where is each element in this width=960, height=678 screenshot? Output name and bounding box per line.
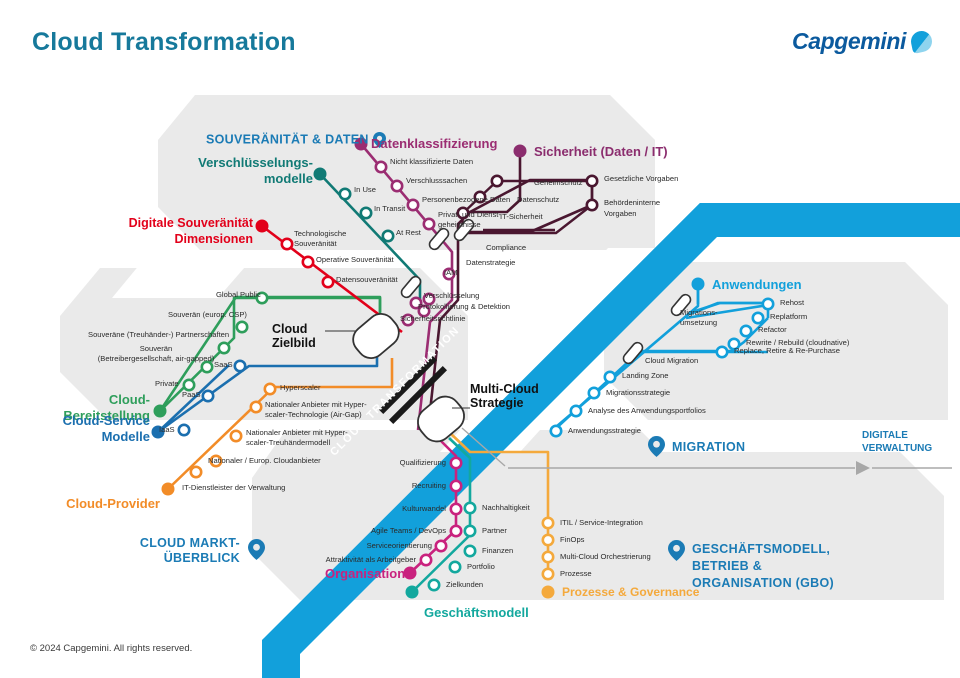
- line-title-prozesse-governance: Prozesse & Governance: [562, 585, 699, 599]
- line-title-geschaeftsmodell: Geschäftsmodell: [424, 605, 529, 620]
- station-label-nationaler-airgap: Nationaler Anbieter mit Hyper- scaler-Te…: [265, 400, 367, 421]
- line-title-organisation: Organisation: [325, 566, 405, 581]
- station-label-in-transit: In Transit: [374, 205, 405, 214]
- label-line2: Vorgaben: [604, 208, 660, 219]
- line-title-sicherheit: Sicherheit (Daten / IT): [534, 144, 668, 159]
- station-label-verschluesselung: Verschlüsselung: [424, 292, 479, 301]
- section-label-line1: GESCHÄFTSMODELL,: [692, 541, 834, 558]
- hub-line1: Multi-Cloud: [470, 382, 539, 396]
- station-label-geheimschutz: Geheimschutz: [534, 179, 583, 188]
- station-label-replace: Replace, Retire & Re-Purchase: [734, 347, 840, 356]
- station-label-personenbezogene-daten: Personenbezogene Daten: [422, 196, 510, 205]
- station-label-datenstrategie: Datenstrategie: [466, 259, 515, 268]
- station-label-portfolio: Portfolio: [467, 563, 495, 572]
- location-pin-icon-migration: [648, 436, 665, 457]
- station-label-refactor: Refactor: [758, 326, 787, 335]
- infographic-canvas: .pl{fill:none;stroke-linecap:butt;stroke…: [0, 0, 960, 678]
- station-label-global-public: Global Public: [216, 291, 261, 300]
- station-label-attraktivitaet: Attraktivität als Arbeitgeber: [312, 556, 416, 565]
- title-line2: Modelle: [38, 429, 150, 445]
- line-title-verschluesselungsmodelle: Verschlüsselungs- modelle: [148, 155, 313, 188]
- station-label-behoerdeninterne-vorgaben: Behördeninterne Vorgaben: [604, 197, 660, 219]
- capgemini-sail-icon: [909, 29, 934, 54]
- station-label-agile-teams: Agile Teams / DevOps: [366, 527, 446, 536]
- station-label-it-dienstleister: IT-Dienstleister der Verwaltung: [182, 484, 285, 493]
- station-label-technologische-souveraenitaet: Technologische Souveränität: [294, 229, 346, 250]
- station-label-qualifizierung: Qualifizierung: [392, 459, 446, 468]
- station-label-migrationsstrategie: Migrationsstrategie: [606, 389, 670, 398]
- label-line2: umsetzung: [680, 318, 718, 328]
- station-label-kulturwandel: Kulturwandel: [390, 505, 446, 514]
- label-line2: Souveränität: [294, 239, 346, 249]
- logo-wordmark: Capgemini: [792, 28, 906, 55]
- station-label-anwendungsstrategie: Anwendungsstrategie: [568, 427, 641, 436]
- section-migration: MIGRATION: [672, 440, 745, 455]
- arrow-line1: DIGITALE: [862, 430, 932, 443]
- line-title-datenklassifizierung: Datenklassifizierung: [371, 136, 497, 151]
- station-label-itil: ITIL / Service-Integration: [560, 519, 643, 528]
- station-label-operative-souveraenitaet: Operative Souveränität: [316, 256, 394, 265]
- station-label-private: Private: [155, 380, 179, 389]
- label-line1: Technologische: [294, 229, 346, 239]
- station-label-rehost: Rehost: [780, 299, 804, 308]
- station-label-souveraen-betreibergesellschaft: Souverän (Betreibergesellschaft, air-gap…: [76, 344, 236, 365]
- station-label-gesetzliche-vorgaben: Gesetzliche Vorgaben: [604, 175, 678, 184]
- title-line2: modelle: [148, 171, 313, 187]
- station-label-multicloud-orch: Multi-Cloud Orchestrierung: [560, 553, 651, 562]
- title-line1: Verschlüsselungs-: [148, 155, 313, 171]
- section-label: SOUVERÄNITÄT & DATEN: [206, 132, 369, 146]
- label-line1: Privat- und Dienst-: [438, 210, 501, 220]
- label-line1: Behördeninterne: [604, 197, 660, 208]
- station-label-iaas: IaaS: [159, 426, 175, 435]
- label-line2: scaler-Technologie (Air-Gap): [265, 410, 367, 420]
- title-line1: Cloud-Service: [38, 413, 150, 429]
- label-line2: geheimnisse: [438, 220, 501, 230]
- station-label-analyse-portfolio: Analyse des Anwendungsportfolios: [588, 407, 706, 416]
- line-title-cloud-service-modelle: Cloud-Service Modelle: [38, 413, 150, 446]
- line-title-digitale-souveraenitaet: Digitale Souveränität Dimensionen: [98, 216, 253, 247]
- station-label-souveraen-csp: Souverän (europ. CSP): [168, 311, 247, 320]
- station-label-compliance: Compliance: [486, 244, 526, 253]
- station-label-in-use: In Use: [354, 186, 376, 195]
- station-label-replatform: Replatform: [770, 313, 807, 322]
- location-pin-icon-markt: [248, 539, 265, 560]
- station-label-recruiting: Recruiting: [396, 482, 446, 491]
- station-label-nachhaltigkeit: Nachhaltigkeit: [482, 504, 530, 513]
- section-cloud-markt-ueberblick: CLOUD MARKT- ÜBERBLICK: [110, 536, 240, 566]
- copyright-text: © 2024 Capgemini. All rights reserved.: [30, 643, 192, 654]
- station-label-verschlusssachen: Verschlusssachen: [406, 177, 467, 186]
- line-title-cloud-provider: Cloud-Provider: [48, 496, 160, 511]
- station-label-finops: FinOps: [560, 536, 584, 545]
- label-line1: Souverän: [76, 344, 236, 354]
- digitale-verwaltung-label: DIGITALE VERWALTUNG: [862, 430, 932, 455]
- station-label-protokollierung: Protokollierung & Detektion: [418, 303, 510, 312]
- station-label-souveraene-treuhaender: Souveräne (Treuhänder-) Partnerschaften: [88, 331, 229, 340]
- location-pin-icon-gbo: [668, 540, 685, 561]
- station-label-nationaler-europ: Nationaler / Europ. Cloudanbieter: [208, 457, 321, 466]
- page-title: Cloud Transformation: [32, 28, 296, 57]
- station-label-partner: Partner: [482, 527, 507, 536]
- station-label-saas: SaaS: [214, 361, 233, 370]
- label-line2: (Betreibergesellschaft, air-gapped): [76, 354, 236, 364]
- title-line1: Digitale Souveränität: [98, 216, 253, 232]
- label-line1: Migrations-: [680, 308, 718, 318]
- station-label-datensouveraenitaet: Datensouveränität: [336, 276, 398, 285]
- station-label-zielkunden: Zielkunden: [446, 581, 483, 590]
- section-label-line3: ORGANISATION (GBO): [692, 575, 834, 592]
- section-souveraenitaet-daten: SOUVERÄNITÄT & DATEN: [206, 132, 386, 148]
- station-label-migrationsumsetzung: Migrations- umsetzung: [680, 308, 718, 329]
- capgemini-logo: Capgemini: [792, 28, 932, 55]
- label-line2: scaler-Treuhändermodell: [246, 438, 348, 448]
- label-line1: Nationaler Anbieter mit Hyper-: [265, 400, 367, 410]
- title-line1: Cloud-: [40, 392, 150, 408]
- station-label-at-rest: At Rest: [396, 229, 421, 238]
- station-label-paas: PaaS: [182, 391, 201, 400]
- station-label-it-sicherheit: IT-Sicherheit: [500, 213, 543, 222]
- section-label-line2: ÜBERBLICK: [110, 551, 240, 566]
- station-label-serviceorientierung: Serviceorientierung: [358, 542, 432, 551]
- section-label-line2: BETRIEB &: [692, 558, 834, 575]
- arrow-line2: VERWALTUNG: [862, 443, 932, 456]
- station-label-prozesse: Prozesse: [560, 570, 592, 579]
- station-label-sicherheitsrichtlinie: Sicherheitsrichtlinie: [400, 315, 465, 324]
- hub-line2: Strategie: [470, 396, 539, 410]
- line-title-anwendungen: Anwendungen: [712, 277, 802, 292]
- station-label-cloud-migration: Cloud Migration: [645, 357, 698, 366]
- station-label-hyperscaler: Hyperscaler: [280, 384, 321, 393]
- label-line1: Nationaler Anbieter mit Hyper-: [246, 428, 348, 438]
- section-label-line1: CLOUD MARKT-: [110, 536, 240, 551]
- station-label-nicht-klassifizierte-daten: Nicht klassifizierte Daten: [390, 158, 473, 167]
- section-gbo: GESCHÄFTSMODELL, BETRIEB & ORGANISATION …: [692, 541, 834, 592]
- station-label-landing-zone: Landing Zone: [622, 372, 668, 381]
- hub-label-cloud-zielbild: Cloud Zielbild: [272, 322, 316, 351]
- hub-label-multi-cloud-strategie: Multi-Cloud Strategie: [470, 382, 539, 411]
- station-label-datenschutz: Datenschutz: [517, 196, 559, 205]
- hub-line2: Zielbild: [272, 336, 316, 350]
- station-label-nationaler-treuhaender: Nationaler Anbieter mit Hyper- scaler-Tr…: [246, 428, 348, 449]
- title-line2: Dimensionen: [98, 232, 253, 248]
- hub-line1: Cloud: [272, 322, 316, 336]
- station-label-iam: IAM: [444, 269, 458, 278]
- station-label-privat-dienstgeheimnisse: Privat- und Dienst- geheimnisse: [438, 210, 501, 230]
- station-label-finanzen: Finanzen: [482, 547, 513, 556]
